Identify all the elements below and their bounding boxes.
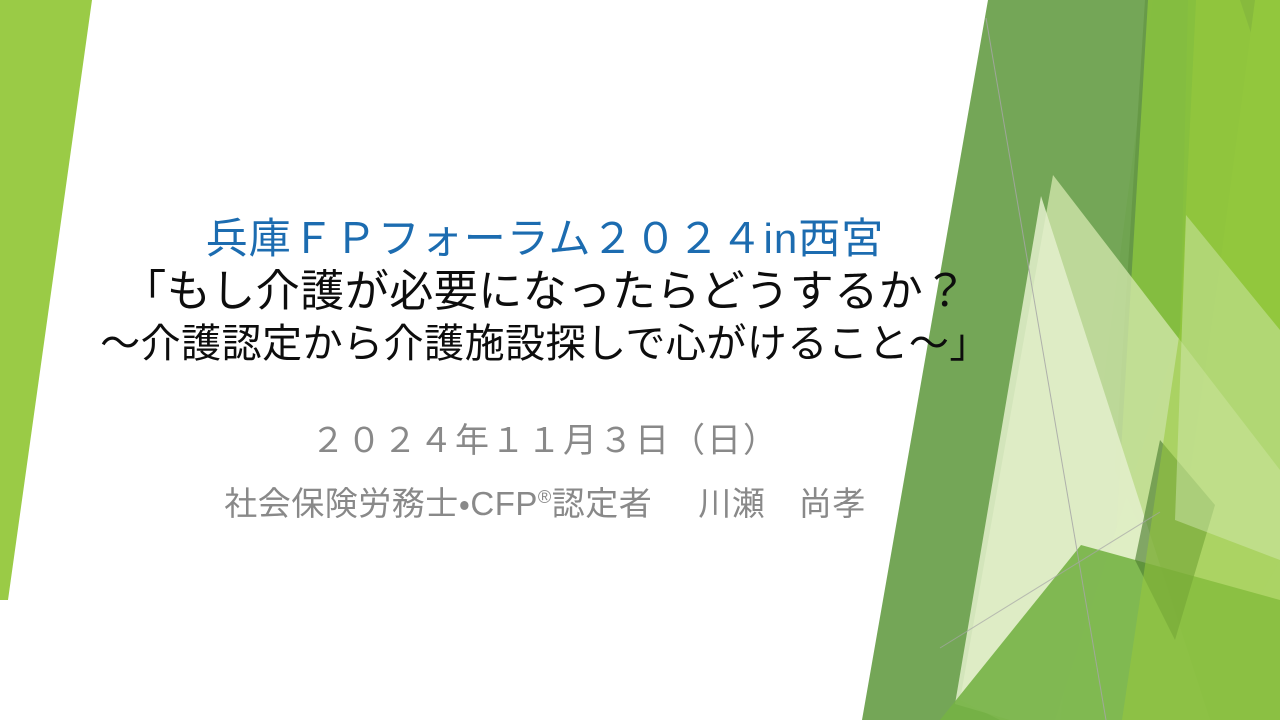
hairline-diagonal-short xyxy=(940,512,1160,648)
right-green-vertical-band xyxy=(1105,0,1280,720)
subtitle-block: ２０２４年１１月３日（日） 社会保険労務士・CFP®認定者川瀬 尚孝 xyxy=(0,421,1090,523)
presenter-credentials-suffix: 認定者 xyxy=(552,485,653,522)
title-line-event: 兵庫ＦＰフォーラム２０２４in西宮 xyxy=(0,214,1090,264)
title-line-subtopic: ～介護認定から介護施設探しで心がけること～」 xyxy=(0,321,1090,368)
bottom-green-sweep xyxy=(940,545,1280,720)
title-block: 兵庫ＦＰフォーラム２０２４in西宮 「もし介護が必要になったらどうするか？ ～介… xyxy=(0,214,1090,369)
registered-trademark-icon: ® xyxy=(538,487,552,507)
hairline-diagonal-long xyxy=(986,18,1106,720)
light-facet-upper-right xyxy=(1175,215,1280,560)
white-notch-top-left xyxy=(940,0,988,60)
subtitle-date: ２０２４年１１月３日（日） xyxy=(0,421,1090,462)
presenter-credentials: 社会保険労務士・CFP xyxy=(224,485,538,522)
subtitle-presenter: 社会保険労務士・CFP®認定者川瀬 尚孝 xyxy=(0,484,1090,524)
right-bright-green-base xyxy=(1060,0,1280,720)
slide-canvas: 兵庫ＦＰフォーラム２０２４in西宮 「もし介護が必要になったらどうするか？ ～介… xyxy=(0,0,1280,720)
chartreuse-right-column xyxy=(1122,0,1280,720)
presenter-name: 川瀬 尚孝 xyxy=(698,485,866,522)
title-line-question: 「もし介護が必要になったらどうするか？ xyxy=(0,266,1090,318)
dark-green-sliver xyxy=(1135,440,1215,640)
right-dark-green-facet xyxy=(1115,0,1255,600)
